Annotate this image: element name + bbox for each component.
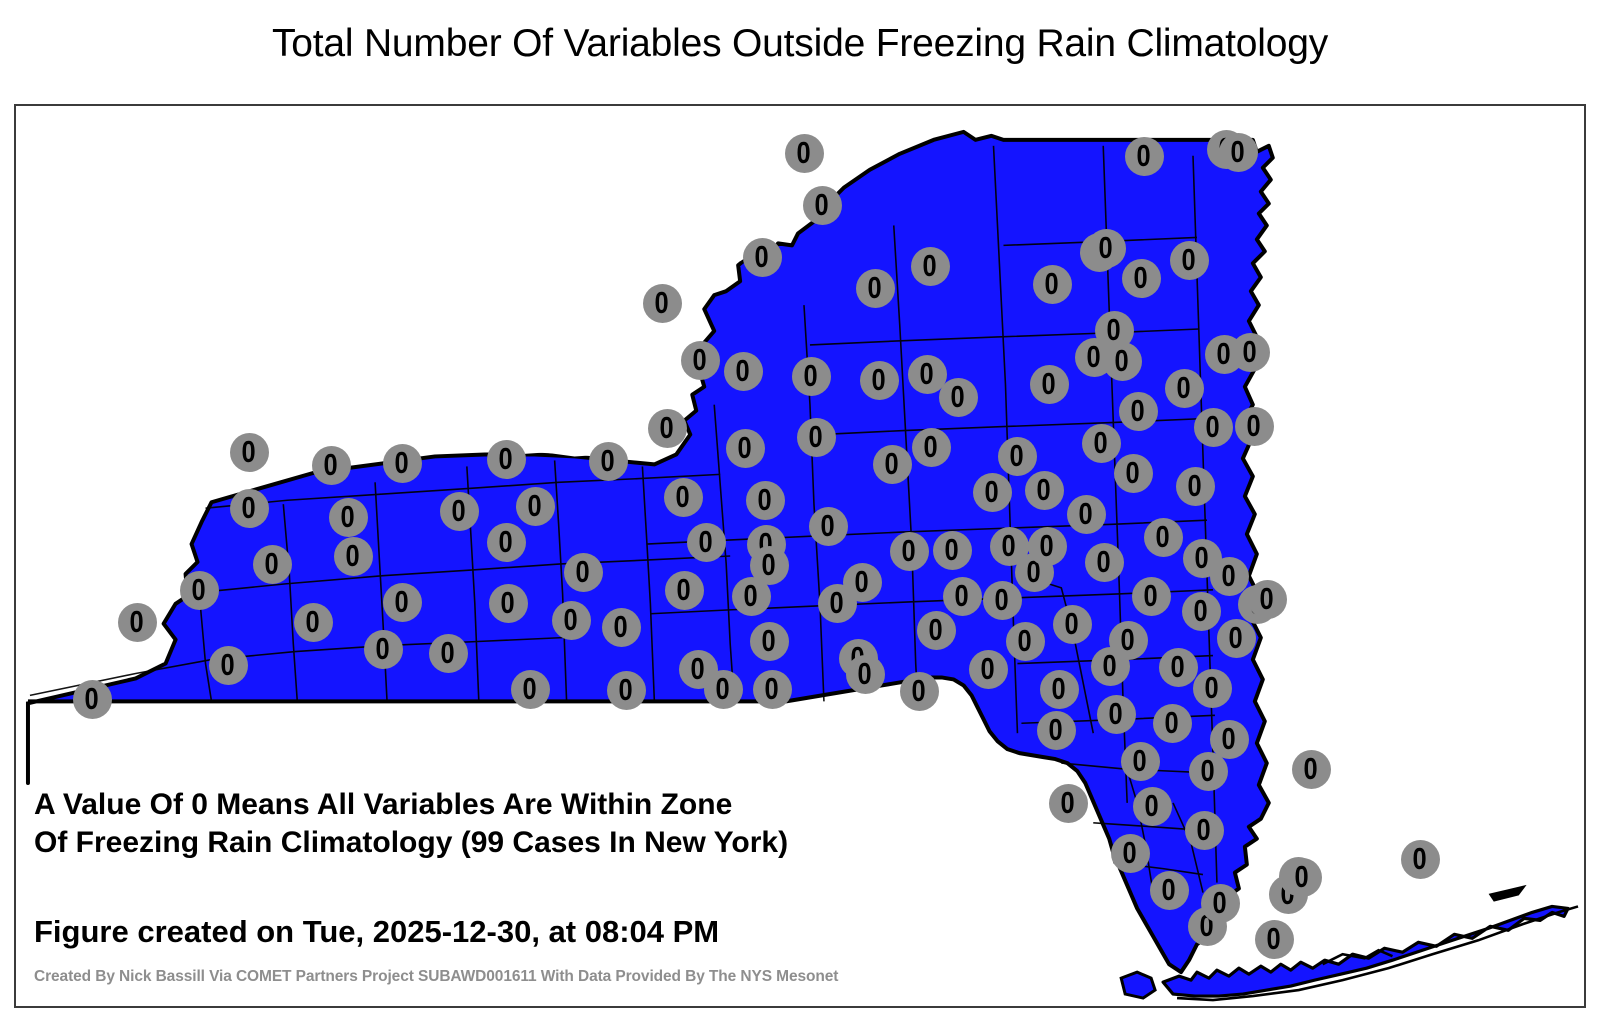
- station-marker-value: 0: [691, 653, 705, 684]
- station-marker-value: 0: [346, 540, 360, 571]
- station-marker-value: 0: [528, 490, 542, 521]
- station-marker-value: 0: [1195, 542, 1209, 573]
- station-marker-value: 0: [324, 449, 338, 480]
- station-marker-value: 0: [564, 604, 578, 635]
- station-marker-value: 0: [1222, 723, 1236, 754]
- station-marker: 0: [364, 630, 403, 669]
- station-marker-value: 0: [765, 673, 779, 704]
- station-marker: 0: [1119, 392, 1158, 431]
- station-marker: 0: [1185, 811, 1224, 850]
- station-marker: 0: [1111, 834, 1150, 873]
- station-marker: 0: [1144, 518, 1183, 557]
- station-marker-value: 0: [885, 448, 899, 479]
- station-marker-value: 0: [716, 673, 730, 704]
- station-marker: 0: [750, 546, 789, 585]
- station-marker: 0: [803, 186, 842, 225]
- station-marker-value: 0: [1065, 608, 1079, 639]
- station-marker-value: 0: [804, 360, 818, 391]
- station-marker-value: 0: [576, 556, 590, 587]
- station-marker: 0: [724, 352, 763, 391]
- station-marker: 0: [429, 634, 468, 673]
- station-marker-value: 0: [306, 606, 320, 637]
- station-marker-value: 0: [762, 549, 776, 580]
- station-marker-value: 0: [677, 574, 691, 605]
- station-marker: 0: [1159, 648, 1198, 687]
- station-marker: 0: [939, 378, 978, 417]
- station-marker-value: 0: [1042, 368, 1056, 399]
- station-marker-value: 0: [1107, 314, 1121, 345]
- station-marker: 0: [564, 553, 603, 592]
- station-marker: 0: [846, 655, 885, 694]
- station-marker-value: 0: [1156, 521, 1170, 552]
- station-marker-value: 0: [699, 526, 713, 557]
- station-marker: 0: [681, 341, 720, 380]
- station-marker: 0: [1292, 750, 1331, 789]
- station-marker: 0: [1006, 622, 1045, 661]
- station-marker: 0: [1067, 495, 1106, 534]
- station-marker: 0: [1201, 884, 1240, 923]
- station-marker: 0: [900, 672, 939, 711]
- station-marker-value: 0: [872, 364, 886, 395]
- station-marker-value: 0: [499, 443, 513, 474]
- station-marker: 0: [943, 577, 982, 616]
- station-marker: 0: [489, 584, 528, 623]
- station-marker: 0: [983, 581, 1022, 620]
- station-marker-value: 0: [660, 412, 674, 443]
- station-marker: 0: [589, 442, 628, 481]
- station-marker-value: 0: [1144, 580, 1158, 611]
- station-marker-value: 0: [601, 445, 615, 476]
- station-marker: 0: [602, 608, 641, 647]
- station-marker: 0: [792, 357, 831, 396]
- station-marker-value: 0: [395, 447, 409, 478]
- station-marker-value: 0: [758, 484, 772, 515]
- station-marker: 0: [797, 418, 836, 457]
- station-marker-value: 0: [736, 355, 750, 386]
- station-marker: 0: [1109, 621, 1148, 660]
- station-marker: 0: [1182, 592, 1221, 631]
- station-marker: 0: [753, 670, 792, 709]
- station-marker: 0: [1165, 369, 1204, 408]
- station-marker: 0: [809, 507, 848, 546]
- station-marker-value: 0: [1194, 595, 1208, 626]
- station-marker: 0: [1121, 742, 1160, 781]
- station-marker: 0: [383, 583, 422, 622]
- station-marker-value: 0: [995, 584, 1009, 615]
- station-marker-value: 0: [1018, 625, 1032, 656]
- station-marker: 0: [1194, 408, 1233, 447]
- station-marker: 0: [912, 428, 951, 467]
- station-marker: 0: [726, 429, 765, 468]
- station-marker: 0: [1049, 784, 1088, 823]
- station-marker-value: 0: [1182, 244, 1196, 275]
- station-marker-value: 0: [1097, 546, 1111, 577]
- station-marker-value: 0: [452, 495, 466, 526]
- station-marker: 0: [511, 670, 550, 709]
- station-marker: 0: [785, 134, 824, 173]
- station-marker: 0: [1176, 467, 1215, 506]
- station-marker-value: 0: [192, 574, 206, 605]
- station-marker-value: 0: [923, 250, 937, 281]
- station-marker-value: 0: [1267, 923, 1281, 954]
- station-marker-value: 0: [1045, 268, 1059, 299]
- station-marker: 0: [334, 537, 373, 576]
- station-marker: 0: [1122, 259, 1161, 298]
- station-marker-value: 0: [441, 637, 455, 668]
- station-marker: 0: [856, 269, 895, 308]
- station-marker-value: 0: [1145, 790, 1159, 821]
- station-marker-value: 0: [830, 587, 844, 618]
- station-marker: 0: [890, 532, 929, 571]
- station-marker: 0: [1097, 695, 1136, 734]
- station-marker: 0: [1133, 787, 1172, 826]
- station-marker-value: 0: [1197, 814, 1211, 845]
- station-marker-value: 0: [1229, 622, 1243, 653]
- station-marker-value: 0: [523, 673, 537, 704]
- station-marker: 0: [73, 680, 112, 719]
- station-marker: 0: [1231, 333, 1270, 372]
- station-marker-value: 0: [945, 534, 959, 565]
- station-marker-value: 0: [655, 287, 669, 318]
- station-marker-value: 0: [1217, 338, 1231, 369]
- station-marker: 0: [843, 563, 882, 602]
- station-marker-value: 0: [619, 674, 633, 705]
- station-marker: 0: [1030, 365, 1069, 404]
- station-marker-value: 0: [920, 358, 934, 389]
- station-marker-value: 0: [1205, 672, 1219, 703]
- annotation-credit: Created By Nick Bassill Via COMET Partne…: [34, 968, 838, 986]
- station-marker: 0: [743, 238, 782, 277]
- station-marker-value: 0: [951, 381, 965, 412]
- station-marker: 0: [1248, 580, 1287, 619]
- station-marker: 0: [1219, 133, 1258, 172]
- station-marker: 0: [253, 545, 292, 584]
- station-marker: 0: [1082, 424, 1121, 463]
- station-marker: 0: [1053, 605, 1092, 644]
- station-marker-value: 0: [1243, 336, 1257, 367]
- station-marker: 0: [648, 409, 687, 448]
- station-marker: 0: [873, 445, 912, 484]
- station-marker-value: 0: [1131, 395, 1145, 426]
- station-marker-value: 0: [1201, 755, 1215, 786]
- station-marker: 0: [860, 361, 899, 400]
- station-marker-value: 0: [85, 683, 99, 714]
- station-marker-value: 0: [809, 421, 823, 452]
- station-marker-value: 0: [693, 344, 707, 375]
- station-marker-value: 0: [1121, 624, 1135, 655]
- station-marker-value: 0: [501, 587, 515, 618]
- station-marker-layer: 0000000000000000000000000000000000000000…: [16, 106, 1584, 1006]
- station-marker: 0: [1033, 265, 1072, 304]
- station-marker: 0: [1125, 137, 1164, 176]
- station-marker-value: 0: [797, 137, 811, 168]
- station-marker: 0: [487, 523, 526, 562]
- station-marker-value: 0: [755, 241, 769, 272]
- station-marker-value: 0: [1188, 470, 1202, 501]
- station-marker-value: 0: [1079, 498, 1093, 529]
- page-title: Total Number Of Variables Outside Freezi…: [0, 22, 1600, 66]
- station-marker-value: 0: [1177, 372, 1191, 403]
- station-marker: 0: [118, 603, 157, 642]
- station-marker: 0: [230, 489, 269, 528]
- station-marker: 0: [1235, 407, 1274, 446]
- station-marker-value: 0: [1134, 262, 1148, 293]
- station-marker: 0: [1103, 342, 1142, 381]
- station-marker-value: 0: [1099, 232, 1113, 263]
- station-marker-value: 0: [1413, 843, 1427, 874]
- station-marker-value: 0: [821, 510, 835, 541]
- station-marker: 0: [911, 247, 950, 286]
- station-marker-value: 0: [924, 431, 938, 462]
- station-marker: 0: [1255, 920, 1294, 959]
- station-marker-value: 0: [1087, 341, 1101, 372]
- station-marker-value: 0: [1171, 651, 1185, 682]
- station-marker: 0: [312, 446, 351, 485]
- station-marker-value: 0: [1222, 560, 1236, 591]
- station-marker: 0: [329, 498, 368, 537]
- station-marker: 0: [1170, 241, 1209, 280]
- station-marker-value: 0: [1295, 861, 1309, 892]
- station-marker: 0: [1040, 670, 1079, 709]
- station-marker-value: 0: [1165, 707, 1179, 738]
- station-marker: 0: [665, 571, 704, 610]
- station-marker-value: 0: [855, 566, 869, 597]
- station-marker-value: 0: [955, 580, 969, 611]
- station-marker-value: 0: [1049, 714, 1063, 745]
- station-marker-value: 0: [868, 272, 882, 303]
- annotation-explanation: A Value Of 0 Means All Variables Are Wit…: [34, 786, 788, 862]
- station-marker-value: 0: [221, 649, 235, 680]
- station-marker-value: 0: [1162, 874, 1176, 905]
- annotation-explanation-line-1: A Value Of 0 Means All Variables Are Wit…: [34, 786, 788, 824]
- annotation-explanation-line-2: Of Freezing Rain Climatology (99 Cases I…: [34, 824, 788, 862]
- station-marker-value: 0: [1304, 753, 1318, 784]
- station-marker: 0: [552, 601, 591, 640]
- station-marker-value: 0: [1247, 410, 1261, 441]
- station-marker: 0: [294, 603, 333, 642]
- station-marker-value: 0: [1123, 837, 1137, 868]
- station-marker: 0: [1217, 619, 1256, 658]
- station-marker-value: 0: [815, 189, 829, 220]
- station-marker: 0: [643, 284, 682, 323]
- station-marker-value: 0: [1040, 530, 1054, 561]
- station-marker-value: 0: [130, 606, 144, 637]
- map-axes: 0000000000000000000000000000000000000000…: [14, 104, 1586, 1008]
- station-marker: 0: [487, 440, 526, 479]
- station-marker-value: 0: [912, 675, 926, 706]
- station-marker-value: 0: [1213, 887, 1227, 918]
- station-marker: 0: [704, 670, 743, 709]
- station-marker-value: 0: [341, 501, 355, 532]
- station-marker-value: 0: [762, 625, 776, 656]
- station-marker: 0: [1150, 871, 1189, 910]
- station-marker-value: 0: [1260, 583, 1274, 614]
- station-marker-value: 0: [1115, 345, 1129, 376]
- station-marker-value: 0: [1010, 440, 1024, 471]
- station-marker-value: 0: [744, 580, 758, 611]
- station-marker-value: 0: [1052, 673, 1066, 704]
- station-marker: 0: [1283, 858, 1322, 897]
- station-marker: 0: [1153, 704, 1192, 743]
- station-marker: 0: [1193, 669, 1232, 708]
- station-marker-value: 0: [376, 633, 390, 664]
- station-marker-value: 0: [1037, 474, 1051, 505]
- station-marker-value: 0: [929, 614, 943, 645]
- station-marker-value: 0: [1061, 787, 1075, 818]
- station-marker: 0: [209, 646, 248, 685]
- station-marker: 0: [1210, 720, 1249, 759]
- station-marker-value: 0: [614, 611, 628, 642]
- station-marker: 0: [746, 481, 785, 520]
- station-marker: 0: [230, 433, 269, 472]
- station-marker-value: 0: [265, 548, 279, 579]
- station-marker: 0: [383, 444, 422, 483]
- station-marker: 0: [687, 523, 726, 562]
- station-marker-value: 0: [1137, 140, 1151, 171]
- figure-root: Total Number Of Variables Outside Freezi…: [0, 0, 1600, 1020]
- station-marker-value: 0: [981, 653, 995, 684]
- station-marker-value: 0: [395, 586, 409, 617]
- station-marker-value: 0: [1133, 745, 1147, 776]
- station-marker: 0: [750, 622, 789, 661]
- station-marker: 0: [1132, 577, 1171, 616]
- station-marker-value: 0: [985, 476, 999, 507]
- station-marker-value: 0: [242, 492, 256, 523]
- station-marker: 0: [607, 671, 646, 710]
- annotation-timestamp: Figure created on Tue, 2025-12-30, at 08…: [34, 914, 719, 950]
- station-marker: 0: [1037, 711, 1076, 750]
- station-marker-value: 0: [242, 436, 256, 467]
- station-marker: 0: [440, 492, 479, 531]
- station-marker: 0: [969, 650, 1008, 689]
- station-marker: 0: [180, 571, 219, 610]
- station-marker-value: 0: [1126, 457, 1140, 488]
- station-marker: 0: [1025, 471, 1064, 510]
- station-marker: 0: [1085, 543, 1124, 582]
- station-marker-value: 0: [902, 535, 916, 566]
- station-marker: 0: [917, 611, 956, 650]
- station-marker-value: 0: [1109, 698, 1123, 729]
- station-marker: 0: [1114, 454, 1153, 493]
- station-marker-value: 0: [1206, 411, 1220, 442]
- station-marker-value: 0: [676, 481, 690, 512]
- station-marker-value: 0: [738, 432, 752, 463]
- station-marker: 0: [998, 437, 1037, 476]
- station-marker-value: 0: [499, 526, 513, 557]
- station-marker: 0: [1028, 527, 1067, 566]
- station-marker: 0: [1087, 229, 1126, 268]
- station-marker-value: 0: [1094, 427, 1108, 458]
- station-marker: 0: [1210, 557, 1249, 596]
- station-marker: 0: [1401, 840, 1440, 879]
- station-marker: 0: [516, 487, 555, 526]
- station-marker-value: 0: [858, 658, 872, 689]
- station-marker: 0: [664, 478, 703, 517]
- station-marker: 0: [933, 531, 972, 570]
- station-marker-value: 0: [1231, 136, 1245, 167]
- station-marker: 0: [973, 473, 1012, 512]
- station-marker-value: 0: [1002, 530, 1016, 561]
